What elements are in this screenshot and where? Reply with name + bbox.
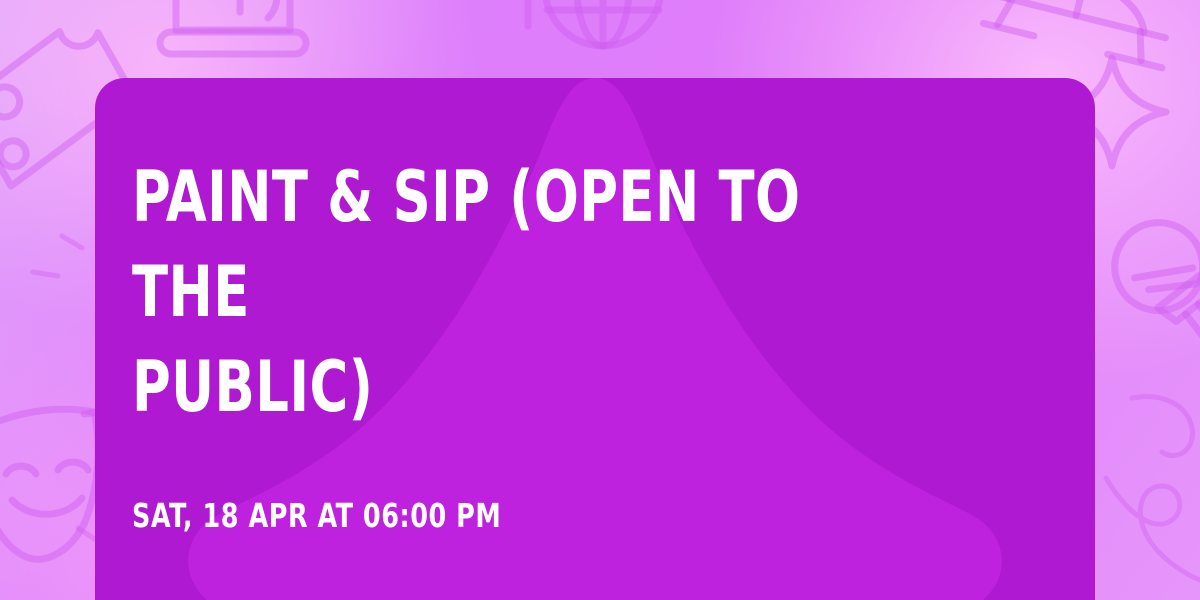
card-content: Paint & Sip (Open to the Public) Sat, 18… (132, 150, 1035, 535)
event-card[interactable]: Paint & Sip (Open to the Public) Sat, 18… (95, 78, 1095, 600)
event-title: Paint & Sip (Open to the Public) (132, 150, 891, 435)
laptop-icon (160, 0, 306, 54)
bench-icon (980, 0, 1181, 68)
globe-icon (545, 0, 661, 46)
event-datetime: Sat, 18 Apr at 06:00 PM (132, 497, 909, 535)
dash-marks-icon (33, 236, 96, 540)
swirl-line-icon (1106, 397, 1200, 580)
event-banner: Paint & Sip (Open to the Public) Sat, 18… (0, 0, 1200, 600)
microphone-icon (1097, 205, 1200, 376)
